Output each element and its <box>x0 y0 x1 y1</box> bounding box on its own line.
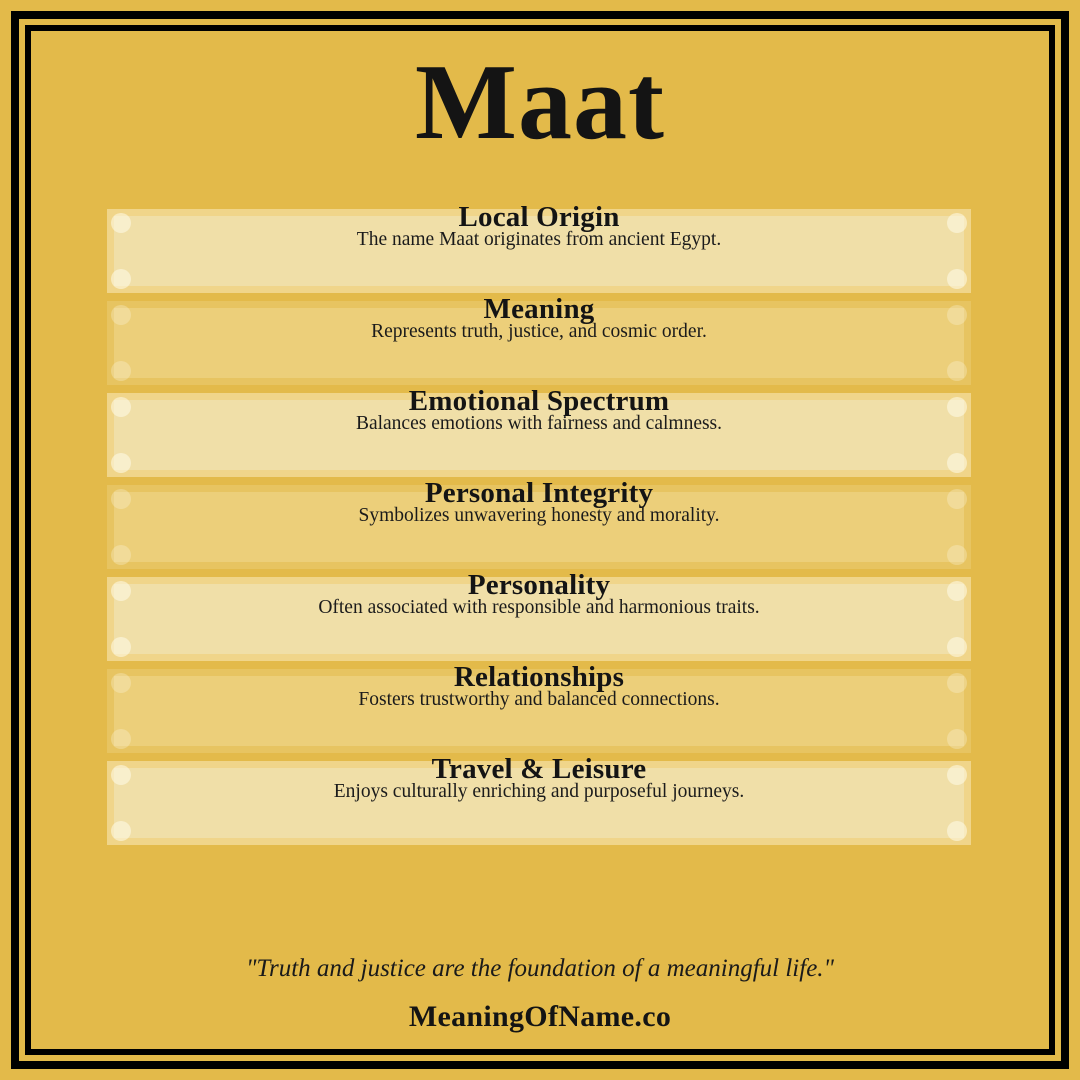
attribute-card-text: Local OriginThe name Maat originates fro… <box>114 202 964 250</box>
attribute-card-subtitle: Symbolizes unwavering honesty and morali… <box>114 506 964 526</box>
poster-content: Maat Local OriginThe name Maat originate… <box>31 31 1049 1049</box>
attribute-card-text: MeaningRepresents truth, justice, and co… <box>114 294 964 342</box>
attribute-card: PersonalityOften associated with respons… <box>107 577 971 661</box>
card-corner-dot-icon <box>947 821 967 841</box>
frame-gap: Maat Local OriginThe name Maat originate… <box>19 19 1061 1061</box>
attribute-card-inner: Personal IntegritySymbolizes unwavering … <box>114 492 964 562</box>
attribute-card: RelationshipsFosters trustworthy and bal… <box>107 669 971 753</box>
attribute-card-subtitle: Often associated with responsible and ha… <box>114 598 964 618</box>
footer-brand: MeaningOfName.co <box>31 1000 1049 1034</box>
attribute-card: Emotional SpectrumBalances emotions with… <box>107 393 971 477</box>
card-corner-dot-icon <box>111 637 131 657</box>
attribute-card-subtitle: The name Maat originates from ancient Eg… <box>114 230 964 250</box>
attribute-card-text: Personal IntegritySymbolizes unwavering … <box>114 478 964 526</box>
attribute-card-inner: Emotional SpectrumBalances emotions with… <box>114 400 964 470</box>
attribute-card-list: Local OriginThe name Maat originates fro… <box>107 209 971 853</box>
attribute-card-subtitle: Balances emotions with fairness and calm… <box>114 414 964 434</box>
attribute-card-inner: RelationshipsFosters trustworthy and bal… <box>114 676 964 746</box>
attribute-card-inner: MeaningRepresents truth, justice, and co… <box>114 308 964 378</box>
attribute-card: Local OriginThe name Maat originates fro… <box>107 209 971 293</box>
page-title: Maat <box>31 49 1049 157</box>
card-corner-dot-icon <box>111 545 131 565</box>
attribute-card-subtitle: Represents truth, justice, and cosmic or… <box>114 322 964 342</box>
card-corner-dot-icon <box>111 269 131 289</box>
attribute-card-text: Emotional SpectrumBalances emotions with… <box>114 386 964 434</box>
frame-outer-border: Maat Local OriginThe name Maat originate… <box>11 11 1069 1069</box>
attribute-card-text: Travel & LeisureEnjoys culturally enrich… <box>114 754 964 802</box>
poster: Maat Local OriginThe name Maat originate… <box>0 0 1080 1080</box>
card-corner-dot-icon <box>111 453 131 473</box>
footer-quote: "Truth and justice are the foundation of… <box>31 955 1049 983</box>
card-corner-dot-icon <box>111 729 131 749</box>
frame-inner-border: Maat Local OriginThe name Maat originate… <box>25 25 1055 1055</box>
card-corner-dot-icon <box>111 821 131 841</box>
card-corner-dot-icon <box>947 545 967 565</box>
attribute-card-subtitle: Enjoys culturally enriching and purposef… <box>114 782 964 802</box>
attribute-card-text: PersonalityOften associated with respons… <box>114 570 964 618</box>
card-corner-dot-icon <box>947 269 967 289</box>
attribute-card-inner: PersonalityOften associated with respons… <box>114 584 964 654</box>
card-corner-dot-icon <box>947 361 967 381</box>
card-corner-dot-icon <box>111 361 131 381</box>
attribute-card: Personal IntegritySymbolizes unwavering … <box>107 485 971 569</box>
attribute-card-text: RelationshipsFosters trustworthy and bal… <box>114 662 964 710</box>
card-corner-dot-icon <box>947 637 967 657</box>
attribute-card-inner: Travel & LeisureEnjoys culturally enrich… <box>114 768 964 838</box>
card-corner-dot-icon <box>947 453 967 473</box>
card-corner-dot-icon <box>947 729 967 749</box>
attribute-card: MeaningRepresents truth, justice, and co… <box>107 301 971 385</box>
attribute-card: Travel & LeisureEnjoys culturally enrich… <box>107 761 971 845</box>
attribute-card-inner: Local OriginThe name Maat originates fro… <box>114 216 964 286</box>
attribute-card-subtitle: Fosters trustworthy and balanced connect… <box>114 690 964 710</box>
